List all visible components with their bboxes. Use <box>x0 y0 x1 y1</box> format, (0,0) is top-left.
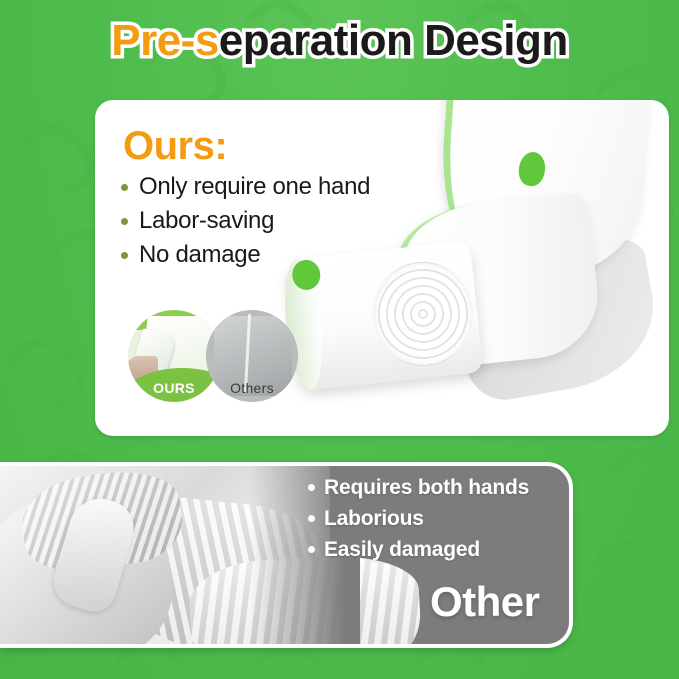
page-title-highlight: Pre-s <box>111 16 219 65</box>
infographic-root: Pre-separation Design Ours: Only require… <box>0 0 679 679</box>
ours-heading: Ours: <box>123 124 227 168</box>
others-thumbnail-label: Others <box>206 380 298 396</box>
page-title: Pre-separation Design <box>111 14 568 68</box>
ours-bullet-list: Only require one hand Labor-saving No da… <box>119 170 449 272</box>
title-wrap: Pre-separation Design <box>0 14 679 68</box>
ours-card-inner: Ours: Only require one hand Labor-saving… <box>95 100 669 436</box>
other-bullet-list: Requires both hands Laborious Easily dam… <box>306 472 576 565</box>
list-item: Labor-saving <box>119 204 449 238</box>
comparison-thumbnails: OURS Others <box>128 310 318 420</box>
other-label: Other <box>430 578 540 626</box>
list-item: Requires both hands <box>306 472 576 503</box>
list-item: No damage <box>119 238 449 272</box>
list-item: Only require one hand <box>119 170 449 204</box>
ours-card: Ours: Only require one hand Labor-saving… <box>95 100 669 436</box>
list-item: Laborious <box>306 503 576 534</box>
bag-roll-spiral <box>368 257 478 371</box>
others-thumbnail: Others <box>206 310 298 402</box>
list-item: Easily damaged <box>306 534 576 565</box>
page-title-rest: eparation Design <box>219 16 568 65</box>
